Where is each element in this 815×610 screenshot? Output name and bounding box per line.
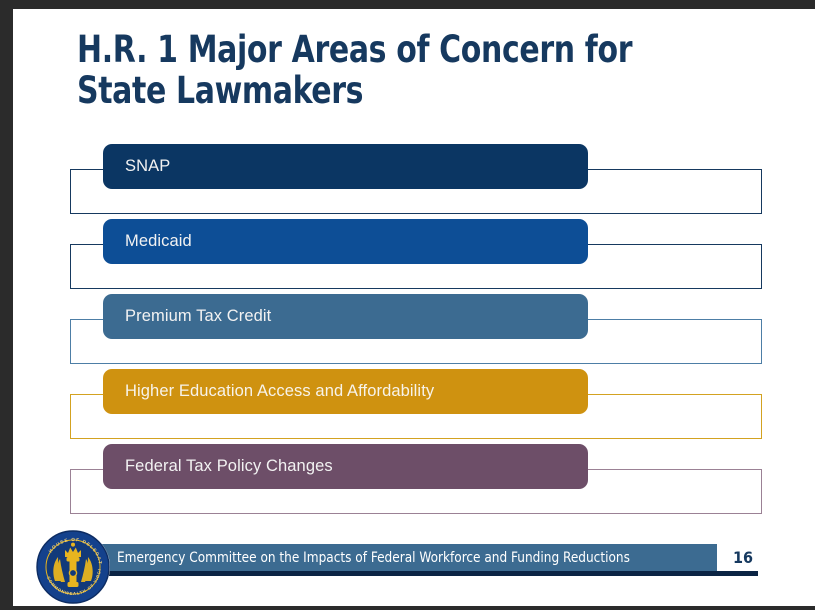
concern-bar-label: SNAP xyxy=(103,157,170,176)
diagram-row: Higher Education Access and Affordabilit… xyxy=(13,369,815,449)
concern-bar-medicaid[interactable]: Medicaid xyxy=(103,219,588,264)
page-number: 16 xyxy=(723,544,763,571)
slide-footer: Emergency Committee on the Impacts of Fe… xyxy=(13,521,815,609)
slide-frame: H.R. 1 Major Areas of Concern for State … xyxy=(0,0,815,609)
concern-bar-federal-tax-policy[interactable]: Federal Tax Policy Changes xyxy=(103,444,588,489)
diagram-row: Premium Tax Credit xyxy=(13,294,815,374)
concern-bar-higher-education[interactable]: Higher Education Access and Affordabilit… xyxy=(103,369,588,414)
concern-bar-premium-tax-credit[interactable]: Premium Tax Credit xyxy=(103,294,588,339)
frame-edge-top xyxy=(0,0,815,9)
concern-bar-label: Medicaid xyxy=(103,232,192,251)
diagram-row: SNAP xyxy=(13,144,815,224)
concern-bar-label: Premium Tax Credit xyxy=(103,307,271,326)
footer-committee-name: Emergency Committee on the Impacts of Fe… xyxy=(117,545,630,571)
diagram-row: Medicaid xyxy=(13,219,815,299)
concern-areas-diagram: SNAP Medicaid Premium Tax Credit xyxy=(13,9,815,609)
concern-bar-label: Higher Education Access and Affordabilit… xyxy=(103,382,434,401)
house-of-delegates-seal-icon: HOUSE OF DELEGATES COMMONWEALTH OF VIRGI… xyxy=(35,529,111,605)
concern-bar-label: Federal Tax Policy Changes xyxy=(103,457,333,476)
diagram-row: Federal Tax Policy Changes xyxy=(13,444,815,524)
frame-edge-left xyxy=(0,0,13,609)
slide-canvas: H.R. 1 Major Areas of Concern for State … xyxy=(13,9,815,609)
footer-rule xyxy=(101,571,758,576)
concern-bar-snap[interactable]: SNAP xyxy=(103,144,588,189)
